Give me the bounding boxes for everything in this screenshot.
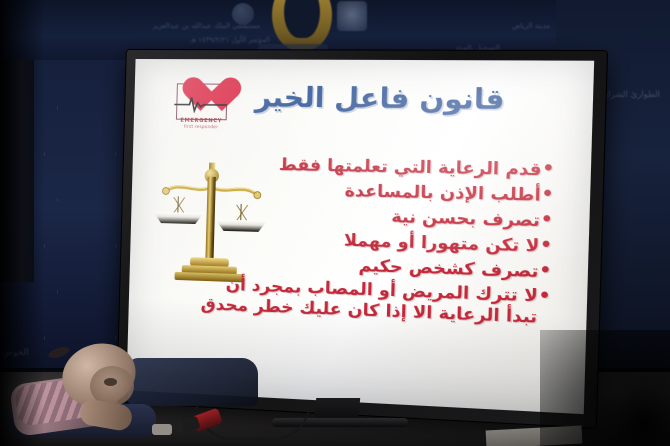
ecg-line-icon (174, 93, 227, 114)
bullet-list: • قدم الرعاية التي تعلمتها فقط • أطلب ال… (199, 152, 556, 331)
bullet-text: لا تترك المريض أو المصاب بمجرد أن تبدأ ا… (199, 274, 538, 328)
corner-shadow-overlay (540, 330, 670, 446)
logo-subtitle: first responder (170, 124, 233, 130)
bullet-marker: • (539, 235, 553, 257)
banner-line-3: مدينة الرياض (512, 22, 550, 30)
scales-pan-left (153, 196, 204, 226)
banner-line-1: مستشفى الملك عبدالله بن عبدالعزيز (153, 22, 260, 30)
standee-text: الطوارئ الشرايين (597, 90, 660, 100)
manikin-eye (104, 378, 117, 386)
bullet-marker: • (538, 260, 552, 282)
list-item: • لا تترك المريض أو المصاب بمجرد أن تبدأ… (199, 274, 552, 329)
left-shadow-overlay (0, 0, 44, 446)
photo-scene: الطوارئ الخوص مستشفى الملك عبدالله بن عب… (0, 0, 670, 446)
bullet-marker: • (540, 184, 554, 206)
banner-line-2: المؤتمر الأول ١٤٣٩/٢/٢١ هـ (190, 36, 270, 44)
manikin-mouth (47, 345, 71, 360)
bullet-marker: • (540, 209, 554, 231)
bullet-marker: • (541, 158, 555, 179)
hexagon-decor-icon (44, 202, 116, 290)
list-item: • قدم الرعاية التي تعلمتها فقط (203, 152, 556, 180)
bullet-marker: • (537, 285, 551, 307)
banner-logo-icon (337, 1, 367, 31)
hexagon-decor-icon (44, 110, 116, 198)
bullet-text: قدم الرعاية التي تعلمتها فقط (203, 152, 542, 180)
slide-title: قانون فاعل الخير (221, 82, 542, 117)
small-object (152, 424, 172, 435)
